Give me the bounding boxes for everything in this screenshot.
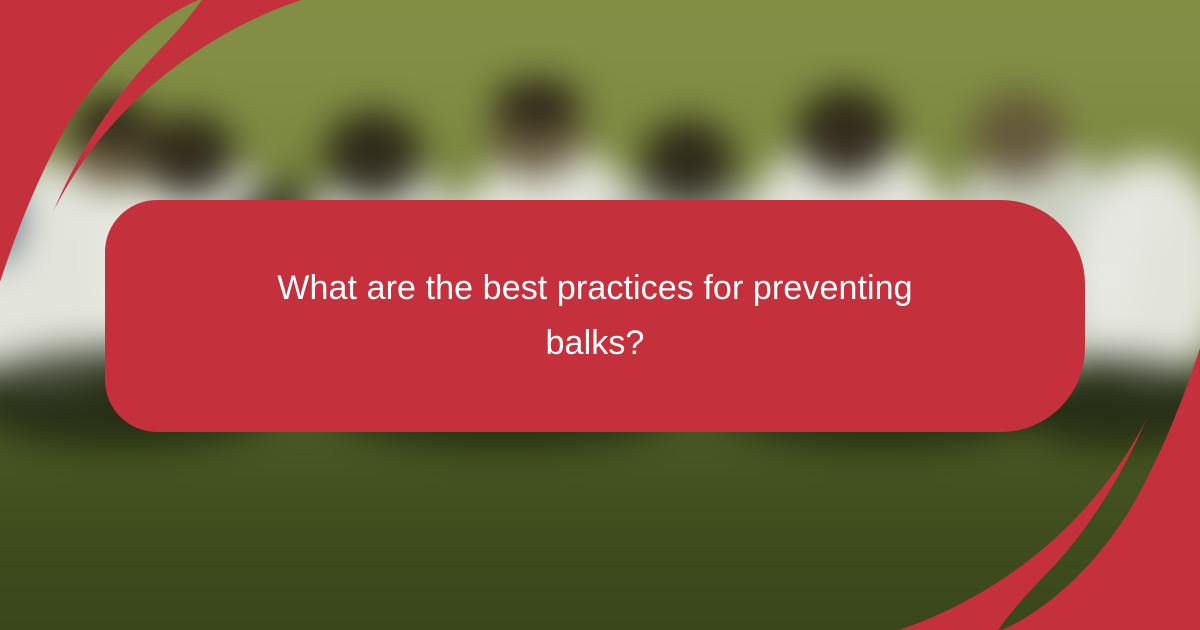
player-head (324, 110, 422, 199)
player-head (971, 92, 1066, 181)
player-head (642, 119, 733, 204)
question-card: What are the best practices for preventi… (105, 200, 1085, 432)
social-card-canvas: What are the best practices for preventi… (0, 0, 1200, 630)
player-hair (73, 96, 149, 145)
player-hair (494, 79, 581, 130)
player-head (796, 87, 896, 180)
player-head (142, 114, 235, 199)
question-text: What are the best practices for preventi… (235, 261, 955, 371)
